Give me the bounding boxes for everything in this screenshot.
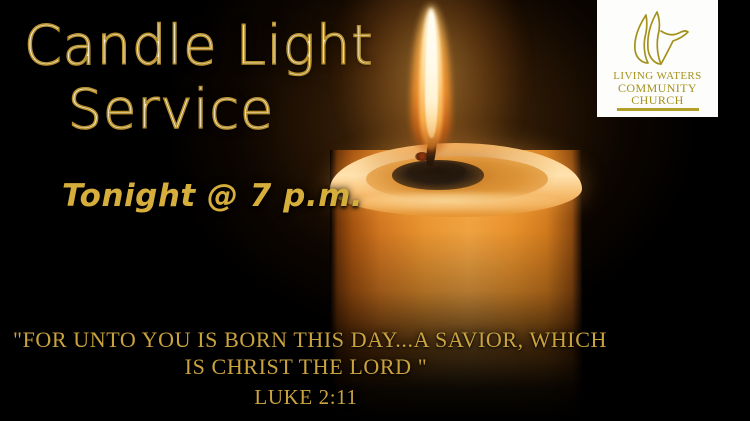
- church-logo: LIVING WATERS COMMUNITY CHURCH: [597, 0, 718, 117]
- rim-highlight: [352, 192, 560, 212]
- scripture-quote: "FOR UNTO YOU IS BORN THIS DAY...A SAVIO…: [0, 326, 612, 411]
- flame-core: [425, 12, 438, 138]
- scripture-line-2: CHRIST THE LORD ": [212, 354, 428, 379]
- event-time-subheadline: Tonight @ 7 p.m.: [62, 178, 363, 214]
- logo-wordmark: LIVING WATERS COMMUNITY CHURCH: [597, 70, 718, 106]
- scripture-reference: LUKE 2:11: [0, 384, 612, 411]
- poster-headline: Candle Light Service: [18, 14, 398, 142]
- logo-line-2: COMMUNITY CHURCH: [597, 82, 718, 106]
- logo-underline: [617, 108, 699, 111]
- candle-light-service-poster: Candle Light Service Tonight @ 7 p.m. "F…: [0, 0, 750, 421]
- dove-icon: [626, 9, 690, 67]
- headline-line-1: Candle Light: [18, 14, 398, 78]
- headline-line-2: Service: [18, 78, 398, 142]
